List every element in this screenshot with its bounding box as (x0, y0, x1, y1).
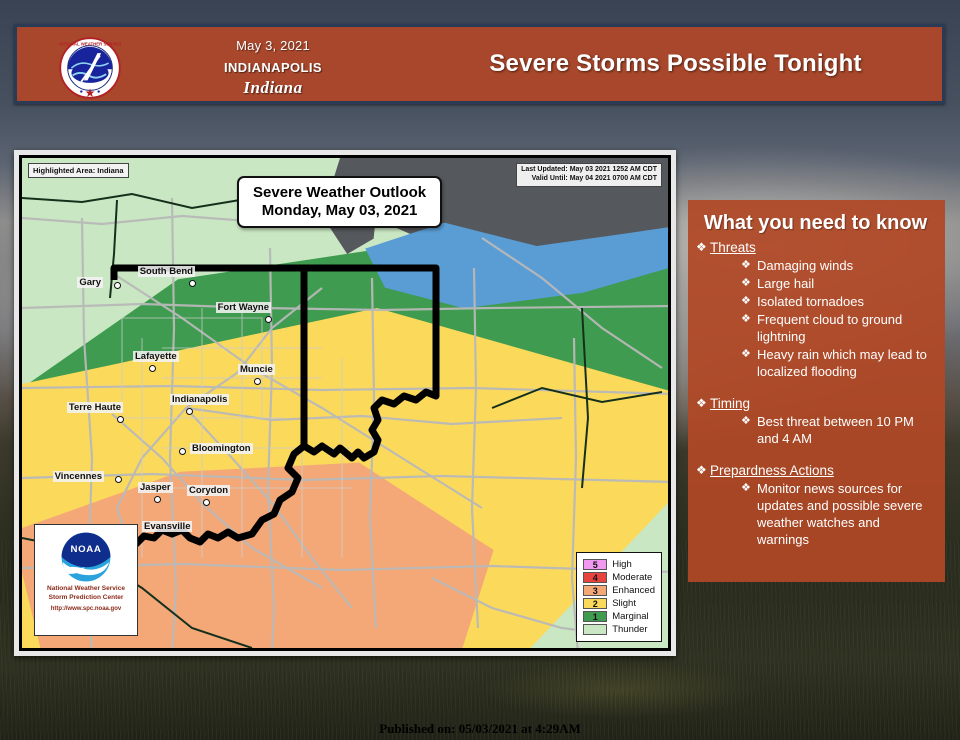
city-dot-icon (115, 476, 122, 483)
info-list-item: ❖Monitor news sources for updates and po… (696, 480, 935, 548)
city-label: Indianapolis (170, 394, 229, 405)
svg-text:NATIONAL WEATHER SERVICE: NATIONAL WEATHER SERVICE (59, 42, 121, 47)
diamond-bullet-icon: ❖ (696, 462, 710, 479)
diamond-bullet-icon: ❖ (741, 275, 757, 292)
section-spacer (696, 380, 935, 393)
outlook-title-line1: Severe Weather Outlook (253, 184, 426, 202)
legend-color-swatch (583, 624, 607, 635)
info-list-item-label: Damaging winds (757, 257, 853, 274)
info-list-item: ❖Damaging winds (696, 257, 935, 274)
legend-color-swatch: 1 (583, 611, 607, 622)
info-list-item-label: Monitor news sources for updates and pos… (757, 480, 935, 548)
legend-row: 5High (583, 558, 655, 571)
header-date: May 3, 2021 (143, 38, 403, 53)
map-timestamp-chip: Last Updated: May 03 2021 1252 AM CDT Va… (516, 163, 662, 187)
city-label: Muncie (238, 364, 275, 375)
city-label: Terre Haute (67, 402, 123, 413)
city-dot-icon (265, 316, 272, 323)
legend-row: 2Slight (583, 597, 655, 610)
info-list-item: ❖Large hail (696, 275, 935, 292)
legend-row: 4Moderate (583, 571, 655, 584)
info-list-item: ❖Heavy rain which may lead to localized … (696, 346, 935, 380)
info-list-item: ❖Best threat between 10 PM and 4 AM (696, 413, 935, 447)
city-dot-icon (117, 416, 124, 423)
legend-label: Thunder (612, 624, 647, 635)
info-panel-title: What you need to know (696, 212, 935, 235)
svg-text:NOAA: NOAA (71, 544, 102, 555)
page-title: Severe Storms Possible Tonight (403, 27, 948, 101)
diamond-bullet-icon: ❖ (741, 311, 757, 328)
last-updated-text: Last Updated: May 03 2021 1252 AM CDT (521, 166, 657, 175)
diamond-bullet-icon: ❖ (741, 293, 757, 310)
info-list-item-label: Large hail (757, 275, 814, 292)
legend-color-swatch: 3 (583, 585, 607, 596)
outlook-title-line2: Monday, May 03, 2021 (253, 202, 426, 220)
risk-legend: 5High4Moderate3Enhanced2Slight1MarginalT… (576, 552, 662, 642)
city-label: South Bend (138, 266, 195, 277)
diamond-bullet-icon: ❖ (741, 346, 757, 363)
noaa-line2: Storm Prediction Center (35, 593, 137, 602)
header-office-city: Indianapolis (143, 56, 403, 78)
info-list-item-label: Isolated tornadoes (757, 293, 864, 310)
legend-level-number: 2 (584, 598, 606, 610)
city-label: Jasper (138, 482, 173, 493)
city-dot-icon (254, 378, 261, 385)
info-section-heading-label: Threats (710, 239, 756, 256)
legend-level-number: 4 (584, 572, 606, 584)
city-dot-icon (154, 496, 161, 503)
city-dot-icon (189, 280, 196, 287)
office-identity-block: May 3, 2021 Indianapolis Indiana (143, 33, 403, 98)
info-list-item-label: Frequent cloud to ground lightning (757, 311, 935, 345)
city-label: Lafayette (133, 351, 179, 362)
legend-color-swatch: 2 (583, 598, 607, 609)
noaa-logo-icon: NOAA (53, 530, 119, 584)
diamond-bullet-icon: ❖ (696, 395, 710, 412)
legend-label: Marginal (612, 611, 648, 622)
legend-row: 3Enhanced (583, 584, 655, 597)
info-section-heading-label: Prepardness Actions (710, 462, 834, 479)
legend-level-number: 1 (584, 611, 606, 623)
city-label: Fort Wayne (216, 302, 271, 313)
info-section-heading-label: Timing (710, 395, 750, 412)
outlook-title-box: Severe Weather Outlook Monday, May 03, 2… (237, 176, 442, 228)
valid-until-text: Valid Until: May 04 2021 0700 AM CDT (521, 175, 657, 184)
footer-bar: Published on: 05/03/2021 at 4:29AM (0, 718, 960, 740)
severe-weather-outlook-map[interactable]: Highlighted Area: Indiana Last Updated: … (14, 150, 676, 656)
info-list-item: ❖Frequent cloud to ground lightning (696, 311, 935, 345)
legend-row: 1Marginal (583, 610, 655, 623)
map-canvas: Highlighted Area: Indiana Last Updated: … (22, 158, 668, 648)
legend-label: Enhanced (612, 585, 655, 596)
header-banner: NATIONAL WEATHER SERVICE May 3, 2021 Ind… (14, 24, 945, 104)
city-label: Vincennes (53, 471, 104, 482)
legend-level-number: 3 (584, 585, 606, 597)
published-timestamp: Published on: 05/03/2021 at 4:29AM (379, 721, 581, 737)
city-dot-icon (114, 282, 121, 289)
what-you-need-to-know-panel: What you need to know ❖Threats❖Damaging … (688, 200, 945, 582)
legend-label: Slight (612, 598, 636, 609)
legend-label: High (612, 559, 632, 570)
legend-color-swatch: 5 (583, 559, 607, 570)
city-dot-icon (186, 408, 193, 415)
city-label: Corydon (187, 485, 230, 496)
city-dot-icon (149, 365, 156, 372)
city-label: Evansville (142, 521, 192, 532)
header-office-state: Indiana (143, 78, 403, 98)
info-section-heading: ❖Threats (696, 239, 935, 256)
info-section-heading: ❖Timing (696, 395, 935, 412)
info-panel-body: ❖Threats❖Damaging winds❖Large hail❖Isola… (696, 239, 935, 548)
info-section-heading: ❖Prepardness Actions (696, 462, 935, 479)
nws-seal-icon: NATIONAL WEATHER SERVICE (59, 37, 121, 99)
legend-level-number: 5 (584, 559, 606, 571)
diamond-bullet-icon: ❖ (696, 239, 710, 256)
city-dot-icon (179, 448, 186, 455)
noaa-url[interactable]: http://www.spc.noaa.gov (35, 606, 137, 612)
section-spacer (696, 447, 935, 460)
legend-row: Thunder (583, 623, 655, 636)
legend-color-swatch: 4 (583, 572, 607, 583)
info-list-item-label: Heavy rain which may lead to localized f… (757, 346, 935, 380)
legend-label: Moderate (612, 572, 652, 583)
info-list-item: ❖Isolated tornadoes (696, 293, 935, 310)
diamond-bullet-icon: ❖ (741, 413, 757, 430)
diamond-bullet-icon: ❖ (741, 257, 757, 274)
city-label: Gary (77, 277, 103, 288)
noaa-spc-logo-box: NOAA National Weather Service Storm Pred… (34, 524, 138, 636)
city-label: Bloomington (190, 443, 253, 454)
diamond-bullet-icon: ❖ (741, 480, 757, 497)
highlight-area-chip: Highlighted Area: Indiana (28, 163, 129, 178)
noaa-line1: National Weather Service (35, 584, 137, 593)
city-dot-icon (203, 499, 210, 506)
info-list-item-label: Best threat between 10 PM and 4 AM (757, 413, 935, 447)
